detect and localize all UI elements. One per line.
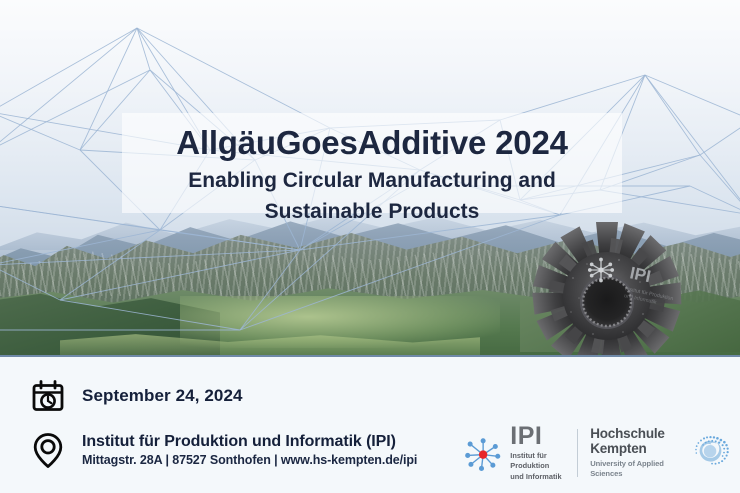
event-location-row: Institut für Produktion und Informatik (… xyxy=(26,428,417,472)
title-block: AllgäuGoesAdditive 2024 Enabling Circula… xyxy=(122,113,622,225)
venue-address: Mittagstr. 28A | 87527 Sonthofen | www.h… xyxy=(82,452,417,469)
hsk-line-1: Hochschule xyxy=(590,427,683,442)
hsk-spiral-icon xyxy=(688,429,730,477)
map-pin-icon xyxy=(26,428,70,472)
ipi-logo[interactable]: IPI Institut für Produktion und Informat… xyxy=(462,424,573,482)
logo-area: IPI Institut für Produktion und Informat… xyxy=(462,424,730,482)
turbine-part-image: IPI Institut für Produktion und Informat… xyxy=(505,218,740,358)
venue-name: Institut für Produktion und Informatik (… xyxy=(82,432,417,452)
logo-separator xyxy=(577,429,578,477)
ipi-network-node-icon xyxy=(462,427,504,479)
subtitle-line-2: Sustainable Products xyxy=(122,198,622,225)
event-location-text-group: Institut für Produktion und Informatik (… xyxy=(82,432,417,469)
event-date-text-group: September 24, 2024 xyxy=(82,386,243,406)
event-poster: IPI Institut für Produktion und Informat… xyxy=(0,0,740,493)
calendar-clock-icon xyxy=(26,374,70,418)
hsk-subtitle: University of Applied Sciences xyxy=(590,459,683,479)
event-date: September 24, 2024 xyxy=(82,386,243,406)
page-title: AllgäuGoesAdditive 2024 xyxy=(122,123,622,163)
hsk-wordmark: Hochschule Kempten University of Applied… xyxy=(590,427,683,479)
ipi-subtitle-line-1: Institut für Produktion xyxy=(510,451,573,470)
ipi-wordmark: IPI Institut für Produktion und Informat… xyxy=(510,424,573,482)
subtitle-line-1: Enabling Circular Manufacturing and xyxy=(122,167,622,194)
event-date-row: September 24, 2024 xyxy=(26,374,243,418)
ipi-mark-text: IPI xyxy=(510,424,573,449)
hsk-line-2: Kempten xyxy=(590,442,683,457)
ipi-subtitle-line-2: und Informatik xyxy=(510,472,573,482)
hochschule-kempten-logo[interactable]: Hochschule Kempten University of Applied… xyxy=(590,427,730,479)
